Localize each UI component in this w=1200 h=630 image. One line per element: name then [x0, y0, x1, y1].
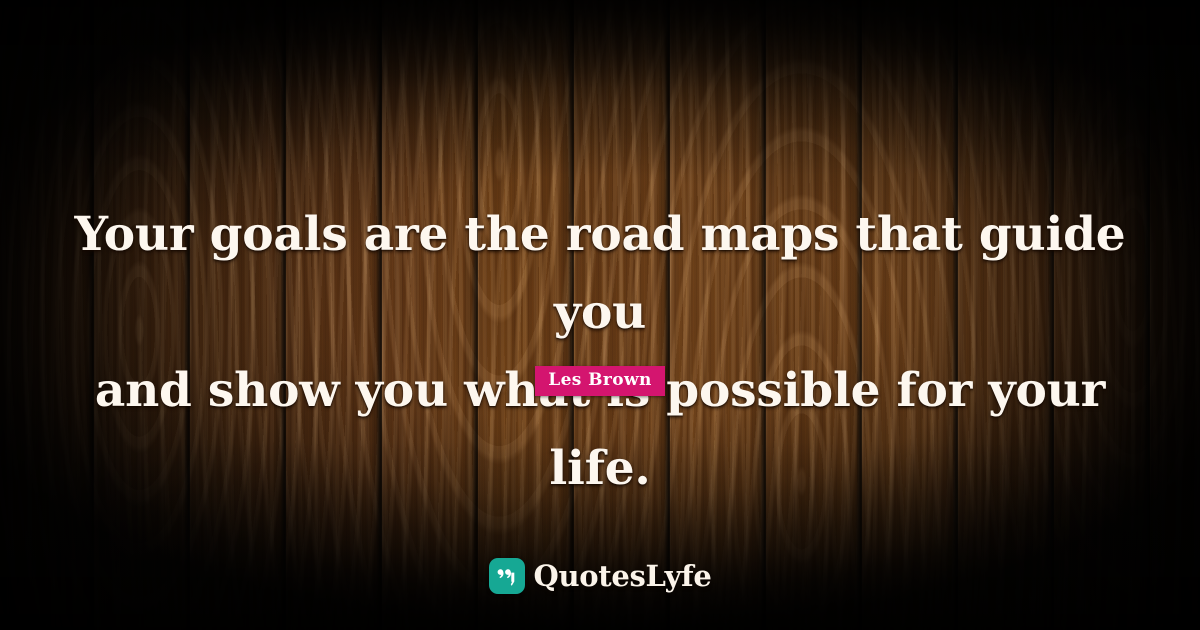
author-attribution: Les Brown — [0, 366, 1200, 396]
quote-bubble-icon — [489, 558, 525, 594]
quote-card: Your goals are the road maps that guide … — [0, 0, 1200, 630]
author-name-badge[interactable]: Les Brown — [535, 366, 665, 396]
brand-logo[interactable]: QuotesLyfe — [0, 558, 1200, 594]
brand-name: QuotesLyfe — [534, 562, 712, 591]
card-content: Your goals are the road maps that guide … — [0, 0, 1200, 630]
quote-text: Your goals are the road maps that guide … — [70, 196, 1130, 508]
quote-block: Your goals are the road maps that guide … — [70, 196, 1130, 508]
